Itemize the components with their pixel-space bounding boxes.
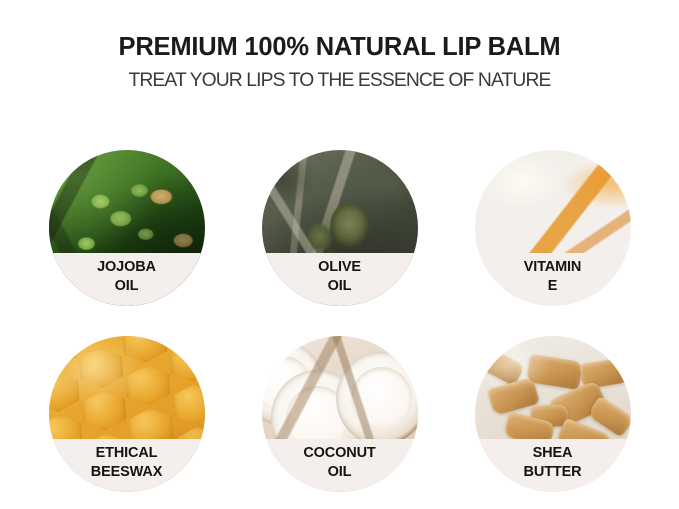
ingredient-label-line: OIL (328, 463, 352, 482)
ingredient-label-vitamin-e: VITAMIN E (475, 253, 631, 306)
ingredient-label-line: BUTTER (524, 463, 582, 482)
page-subtitle: TREAT YOUR LIPS TO THE ESSENCE OF NATURE (3, 61, 675, 91)
ingredient-label-line: COCONUT (303, 444, 375, 463)
ingredient-label-line: SHEA (533, 444, 573, 463)
ingredient-badge-vitamin-e[interactable]: VITAMIN E (475, 150, 631, 306)
ingredient-label-jojoba-oil: JOJOBA OIL (49, 253, 205, 306)
ingredient-badge-coconut-oil[interactable]: COCONUT OIL (262, 336, 418, 492)
ingredient-label-line: VITAMIN (524, 258, 581, 277)
ingredient-label-shea-butter: SHEA BUTTER (475, 439, 631, 492)
ingredient-row-2: ETHICAL BEESWAX COCONUT OIL (0, 336, 679, 492)
ingredient-badge-jojoba-oil[interactable]: JOJOBA OIL (49, 150, 205, 306)
ingredient-label-olive-oil: OLIVE OIL (262, 253, 418, 306)
ingredient-label-line: OIL (115, 277, 139, 296)
header: PREMIUM 100% NATURAL LIP BALM TREAT YOUR… (0, 0, 679, 91)
ingredient-badge-shea-butter[interactable]: SHEA BUTTER (475, 336, 631, 492)
ingredient-label-line: OIL (328, 277, 352, 296)
ingredient-grid: JOJOBA OIL OLIVE OIL VITAMIN E (0, 150, 679, 492)
ingredient-badge-ethical-beeswax[interactable]: ETHICAL BEESWAX (49, 336, 205, 492)
page-title: PREMIUM 100% NATURAL LIP BALM (0, 0, 679, 61)
ingredient-label-line: OLIVE (318, 258, 361, 277)
ingredient-label-ethical-beeswax: ETHICAL BEESWAX (49, 439, 205, 492)
ingredient-row-1: JOJOBA OIL OLIVE OIL VITAMIN E (0, 150, 679, 306)
ingredient-label-coconut-oil: COCONUT OIL (262, 439, 418, 492)
ingredient-label-line: BEESWAX (91, 463, 162, 482)
ingredient-label-line: E (548, 277, 558, 296)
ingredient-label-line: ETHICAL (96, 444, 158, 463)
ingredient-badge-olive-oil[interactable]: OLIVE OIL (262, 150, 418, 306)
ingredient-label-line: JOJOBA (97, 258, 156, 277)
